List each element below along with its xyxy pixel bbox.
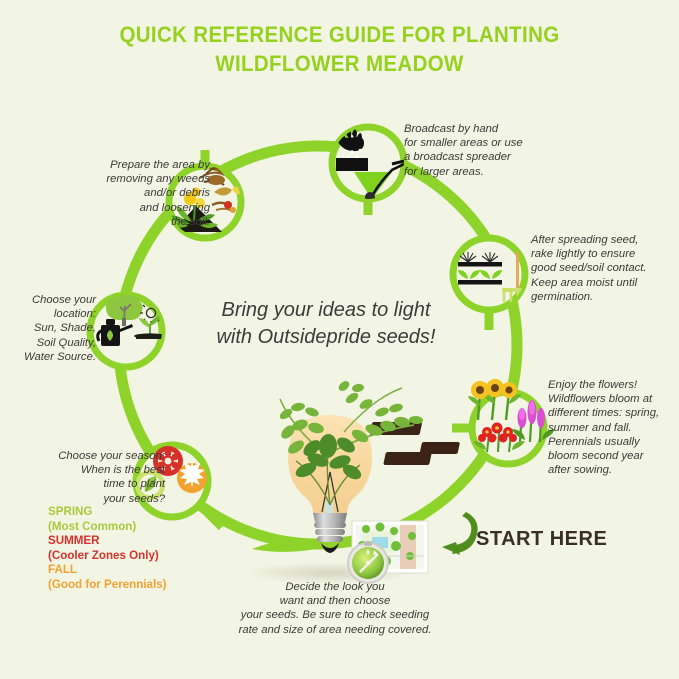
- infographic-canvas: QUICK REFERENCE GUIDE FOR PLANTING WILDF…: [0, 0, 679, 679]
- caption-enjoy: Enjoy the flowers! Wildflowers bloom at …: [548, 378, 679, 477]
- caption-rake: After spreading seed, rake lightly to en…: [531, 233, 679, 304]
- season-legend: SPRING (Most Common) SUMMER (Cooler Zone…: [10, 505, 175, 592]
- season-spring-note: (Most Common): [10, 520, 175, 535]
- caption-season: Choose your season: When is the best tim…: [10, 449, 165, 506]
- slogan-line-2: with Outsidepride seeds!: [186, 324, 466, 351]
- season-spring-name: SPRING: [10, 505, 175, 520]
- season-fall-name: FALL: [10, 563, 175, 578]
- season-fall-note: (Good for Perennials): [10, 578, 175, 593]
- node-broadcast[interactable]: [332, 127, 408, 202]
- start-here-label: START HERE: [476, 528, 607, 551]
- caption-location: Choose your location: Sun, Shade, Soil Q…: [4, 293, 96, 364]
- caption-decide: Decide the look you want and then choose…: [205, 580, 465, 637]
- node-location[interactable]: [90, 292, 166, 367]
- slogan-line-1: Bring your ideas to light: [186, 297, 466, 324]
- center-slogan: Bring your ideas to light with Outsidepr…: [186, 297, 466, 351]
- season-summer-name: SUMMER: [10, 534, 175, 549]
- caption-broadcast: Broadcast by hand for smaller areas or u…: [404, 122, 584, 179]
- season-summer-note: (Cooler Zones Only): [10, 549, 175, 564]
- caption-prepare: Prepare the area by removing any weeds a…: [40, 158, 210, 229]
- lightbulb-garden-plan-icon: [244, 379, 428, 584]
- curved-arrow-left-icon: [442, 512, 478, 555]
